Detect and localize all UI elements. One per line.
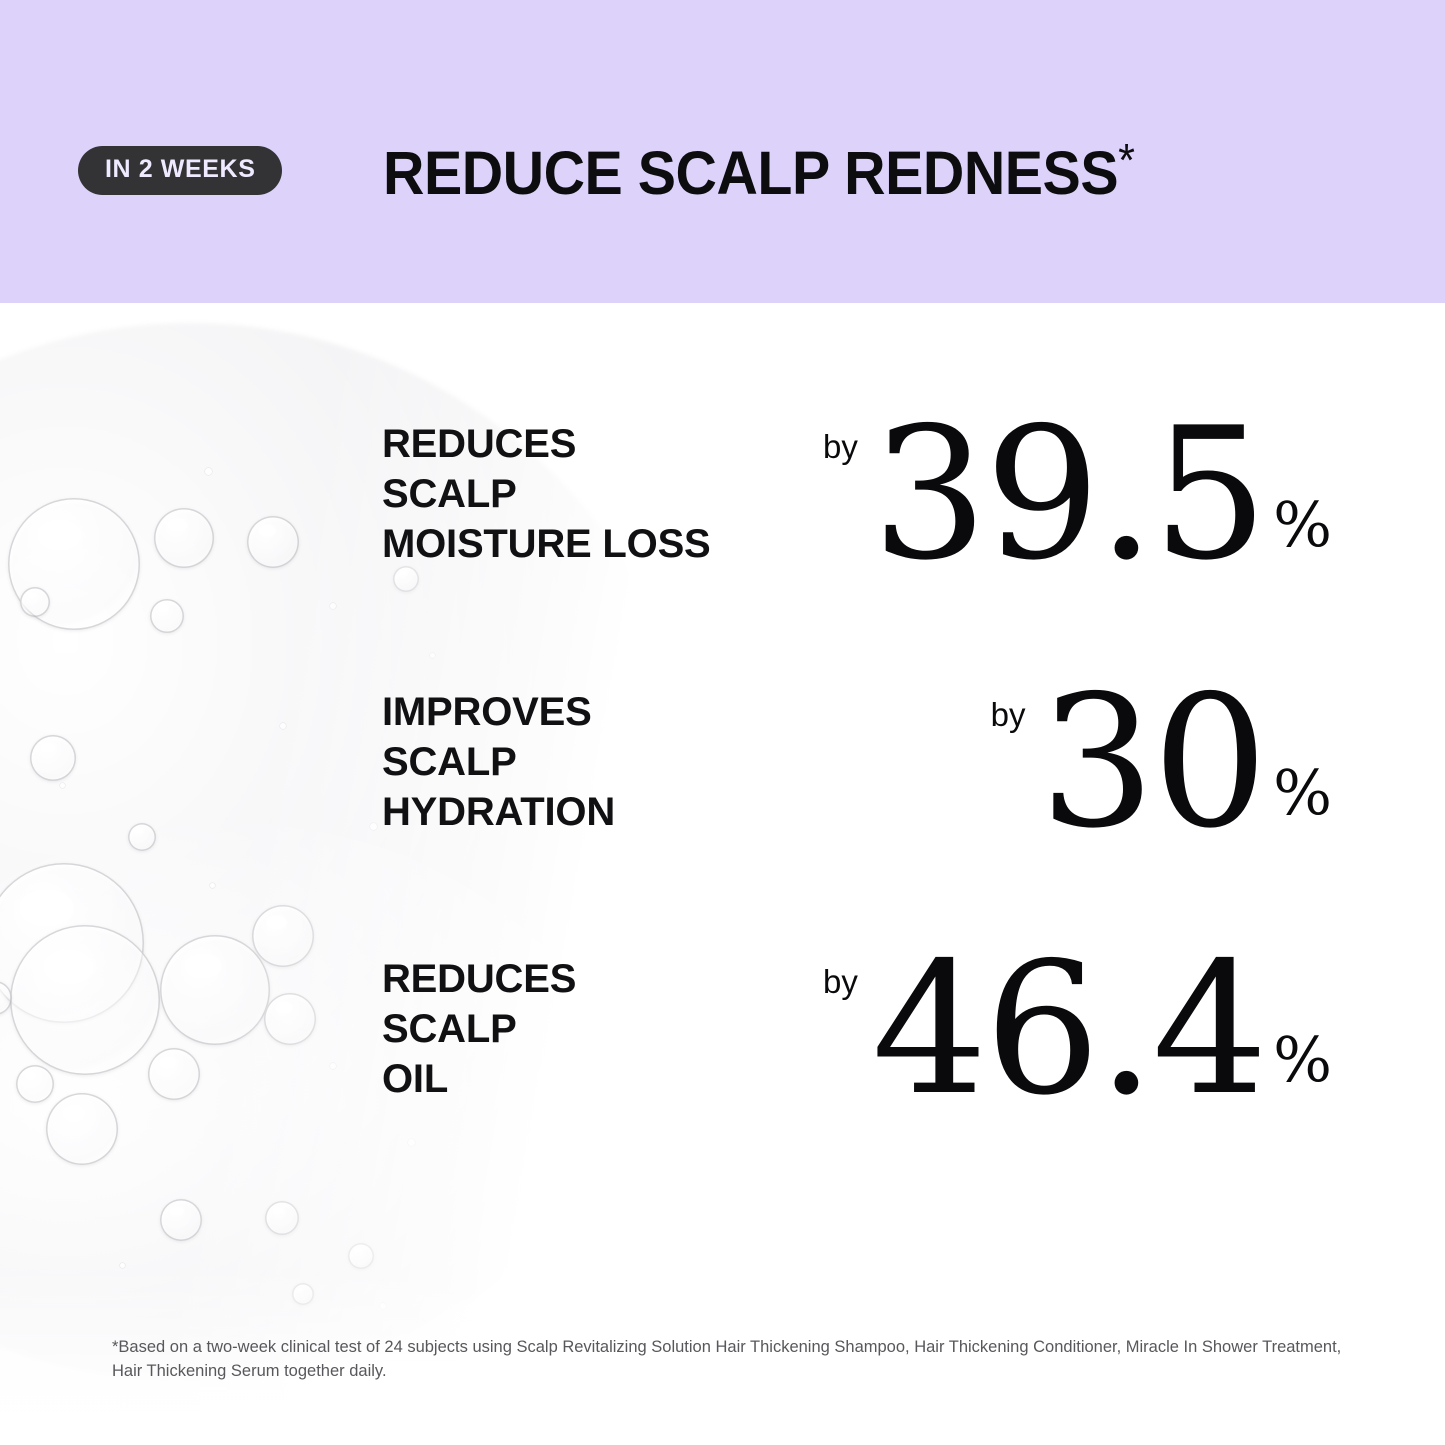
bubble (10, 925, 160, 1075)
stat-row: IMPROVES SCALP HYDRATION by 30 % (382, 684, 1332, 841)
stat-value: by 30 % (991, 684, 1332, 841)
stat-number: 46.4 (872, 951, 1265, 1108)
micro-bubble (330, 603, 336, 609)
stat-by-label: by (823, 430, 858, 463)
stat-label: IMPROVES SCALP HYDRATION (382, 687, 615, 838)
micro-bubble (430, 653, 435, 658)
bubble (0, 863, 144, 1023)
bubble (264, 993, 316, 1045)
stat-number: 30 (1039, 684, 1265, 841)
bubble (150, 599, 184, 633)
duration-badge: IN 2 WEEKS (78, 146, 282, 195)
stat-value: by 39.5 % (823, 416, 1332, 573)
bubble (8, 498, 140, 630)
bubble (265, 1201, 299, 1235)
bubble (20, 587, 50, 617)
stat-row: REDUCES SCALP MOISTURE LOSS by 39.5 % (382, 416, 1332, 573)
bubble (292, 1283, 314, 1305)
micro-bubble (280, 723, 286, 729)
stat-number: 39.5 (872, 416, 1265, 573)
bubble (0, 981, 12, 1015)
bubble (160, 935, 270, 1045)
stat-by-label: by (823, 965, 858, 998)
header-row: IN 2 WEEKS REDUCE SCALP REDNESS* (78, 137, 1183, 204)
micro-bubble (60, 783, 65, 788)
stat-row: REDUCES SCALP OIL by 46.4 % (382, 951, 1332, 1108)
bubble (247, 516, 299, 568)
micro-bubble (120, 1263, 125, 1268)
stat-percent-sign: % (1273, 494, 1332, 556)
stat-percent-sign: % (1273, 762, 1332, 824)
stat-percent-sign: % (1273, 1029, 1332, 1091)
page-title-asterisk: * (1119, 134, 1135, 186)
bubble (128, 823, 156, 851)
bubble (348, 1243, 374, 1269)
bubble (16, 1065, 54, 1103)
micro-bubble (408, 1139, 415, 1146)
micro-bubble (370, 823, 377, 830)
footnote-disclaimer: *Based on a two-week clinical test of 24… (112, 1336, 1352, 1384)
bubble (46, 1093, 118, 1165)
micro-bubble (205, 468, 212, 475)
bubble (30, 735, 76, 781)
page-title-text: REDUCE SCALP REDNESS (383, 139, 1118, 207)
micro-bubble (210, 883, 215, 888)
stat-label: REDUCES SCALP MOISTURE LOSS (382, 419, 711, 570)
bubble (252, 905, 314, 967)
bubble (160, 1199, 202, 1241)
header-band: IN 2 WEEKS REDUCE SCALP REDNESS* (0, 0, 1445, 303)
stat-by-label: by (991, 698, 1026, 731)
page-title: REDUCE SCALP REDNESS* (383, 137, 1134, 204)
stat-label: REDUCES SCALP OIL (382, 954, 576, 1105)
bubble (148, 1048, 200, 1100)
micro-bubble (380, 1303, 386, 1309)
stat-value: by 46.4 % (823, 951, 1332, 1108)
bubble (154, 508, 214, 568)
micro-bubble (330, 1063, 336, 1069)
